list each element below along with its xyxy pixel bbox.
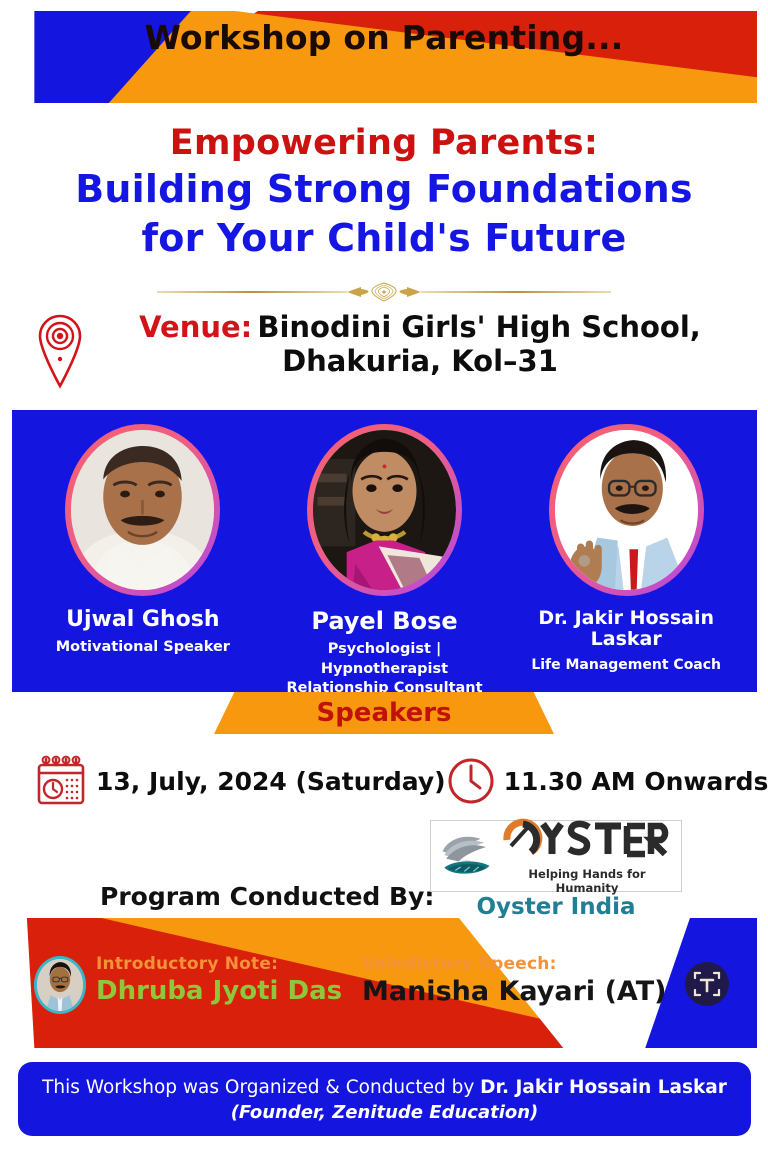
valedictory-speech-block: Valedictory Speech: Manisha Kayari (AT) — [362, 954, 666, 1007]
speakers-grid: Ujwal Ghosh Motivational Speaker — [12, 410, 757, 692]
headline-line-3: for Your Child's Future — [0, 214, 768, 263]
event-date: 13, July, 2024 (Saturday) — [96, 767, 446, 796]
text-scan-t-icon[interactable] — [685, 962, 729, 1006]
oyster-org-name: Oyster India — [430, 894, 682, 920]
oyster-logo-box: Helping Hands for Humanity — [430, 820, 682, 892]
bottom-band: Introductory Note: Dhruba Jyoti Das Vale… — [12, 918, 757, 1048]
speaker-role: Life Management Coach — [505, 656, 747, 674]
venue-row: Venue: Binodini Girls' High School, Dhak… — [36, 310, 744, 390]
speaker-role-line-1: Psychologist | Hypnotherapist — [264, 640, 506, 678]
headline-block: Empowering Parents: Building Strong Foun… — [0, 122, 768, 263]
oyster-wordmark-text — [507, 822, 665, 854]
speaker-role: Motivational Speaker — [22, 638, 264, 657]
banner-title: Workshop on Parenting... — [0, 18, 768, 57]
introductory-note-name: Dhruba Jyoti Das — [96, 976, 342, 1006]
valedictory-speech-name: Manisha Kayari (AT) — [362, 976, 666, 1007]
schedule-row: 13, July, 2024 (Saturday) 11.30 AM Onwar… — [34, 754, 742, 808]
speakers-ribbon-label: Speakers — [316, 698, 451, 728]
location-pin-icon — [36, 312, 84, 390]
venue-value-line2: Dhakuria, Kol–31 — [96, 344, 744, 378]
oyster-logo-tagline: Helping Hands for Humanity — [501, 867, 673, 895]
headline-line-2: Building Strong Foundations — [0, 165, 768, 214]
speaker-card-jakir-hossain-laskar: Dr. Jakir Hossain Laskar Life Management… — [505, 424, 747, 674]
footer-banner: This Workshop was Organized & Conducted … — [18, 1062, 751, 1136]
venue-value: Binodini Girls' High School, — [257, 310, 700, 344]
calendar-icon — [34, 754, 88, 808]
valedictory-speech-label: Valedictory Speech: — [362, 954, 666, 974]
speaker-name: Dr. Jakir Hossain Laskar — [505, 608, 747, 650]
footer-organizer-name: Dr. Jakir Hossain Laskar — [480, 1077, 727, 1098]
speaker-card-payel-bose: Payel Bose Psychologist | Hypnotherapist… — [264, 424, 506, 717]
time-item: 11.30 AM Onwards — [446, 756, 768, 806]
date-item: 13, July, 2024 (Saturday) — [34, 754, 446, 808]
speaker-photo-frame — [549, 424, 704, 596]
speaker-photo-jakir-hossain-laskar — [555, 430, 698, 590]
venue-label: Venue: — [139, 310, 252, 344]
gold-ornament-divider — [149, 281, 619, 303]
footer-line-1: This Workshop was Organized & Conducted … — [42, 1077, 727, 1098]
speaker-card-ujwal-ghosh: Ujwal Ghosh Motivational Speaker — [22, 424, 264, 657]
introductory-note-label: Introductory Note: — [96, 954, 342, 974]
introductory-note-block: Introductory Note: Dhruba Jyoti Das — [96, 954, 342, 1006]
speaker-name: Payel Bose — [264, 608, 506, 634]
speakers-panel: Ujwal Ghosh Motivational Speaker — [12, 410, 757, 692]
speakers-ribbon: Speakers — [214, 692, 554, 734]
avatar-dhruba-jyoti-das — [34, 956, 86, 1014]
venue-text: Venue: Binodini Girls' High School, Dhak… — [96, 310, 744, 378]
speaker-photo-frame — [307, 424, 462, 596]
avatar-image — [37, 959, 83, 1011]
oyster-shell-pearl-icon — [439, 829, 495, 883]
speaker-photo-frame — [65, 424, 220, 596]
poster-canvas: Workshop on Parenting... Empowering Pare… — [0, 0, 768, 1155]
oyster-wordmark-group: Helping Hands for Humanity — [501, 818, 673, 895]
speaker-photo-payel-bose — [313, 430, 456, 590]
speaker-photo-ujwal-ghosh — [71, 430, 214, 590]
footer-text-prefix: This Workshop was Organized & Conducted … — [42, 1077, 480, 1098]
event-time: 11.30 AM Onwards — [504, 767, 768, 796]
headline-line-1: Empowering Parents: — [0, 122, 768, 165]
footer-organizer-title: (Founder, Zenitude Education) — [231, 1102, 539, 1123]
conducted-by-label: Program Conducted By: — [100, 882, 434, 911]
speaker-name: Ujwal Ghosh — [22, 608, 264, 632]
clock-icon — [446, 756, 496, 806]
